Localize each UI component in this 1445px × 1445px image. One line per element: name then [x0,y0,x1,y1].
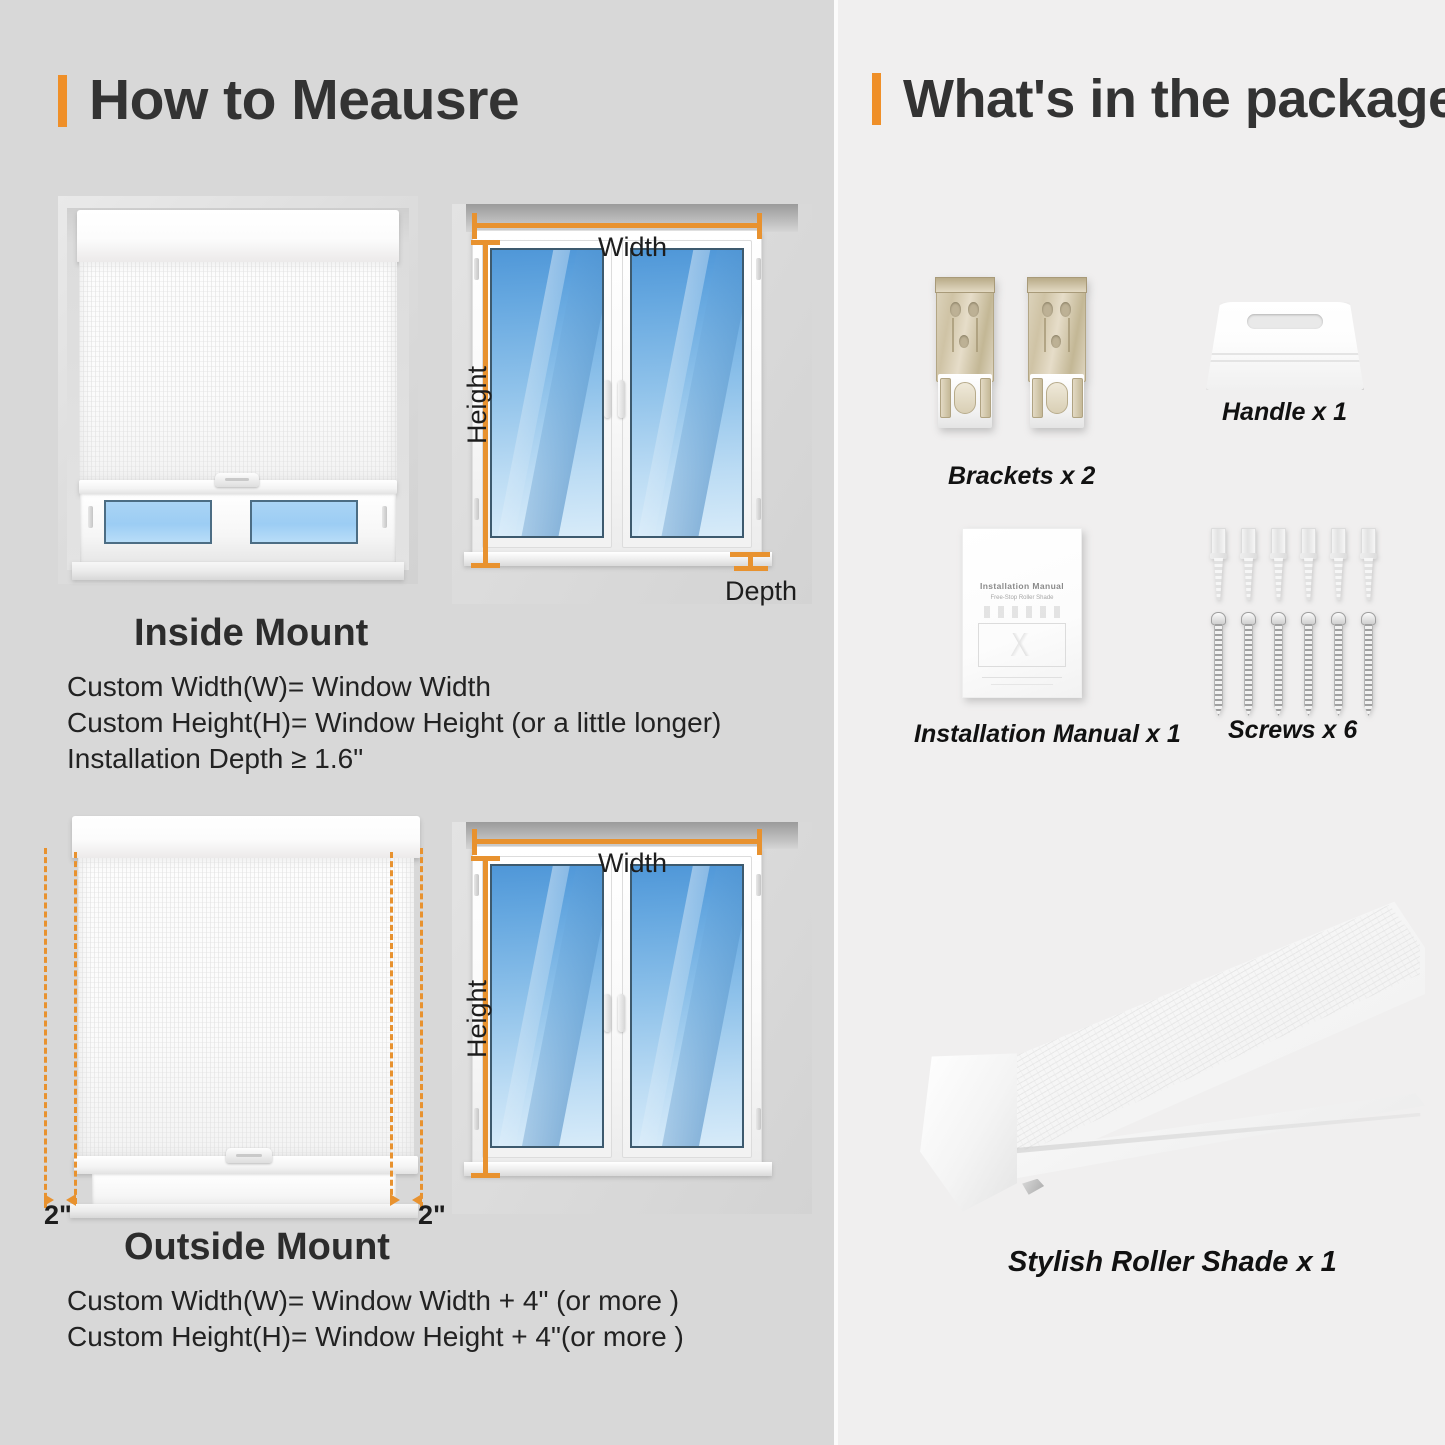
depth-label: Depth [725,576,797,607]
manual-cover-title: Installation Manual [963,581,1081,591]
overhang-guide-left-outer [44,848,47,1208]
roller-shade-caption: Stylish Roller Shade x 1 [1008,1246,1337,1279]
window-sash-right [622,856,752,1158]
handle-seam [1206,360,1364,362]
height-label: Height [462,366,493,444]
width-dimension-cap-right [757,213,762,239]
inside-mount-shade-illustration [58,196,418,584]
width-label: Width [598,232,667,263]
overhang-left-label: 2" [44,1200,72,1231]
window-sill [464,552,772,566]
width-dimension-line [472,839,762,844]
inside-mount-line-1: Custom Width(W)= Window Width [67,671,491,703]
manual-icon: Installation Manual Free-Stop Roller Sha… [962,528,1082,698]
manual-caption: Installation Manual x 1 [914,720,1181,749]
window-hinge-bottom-right-icon [756,1108,761,1130]
window-hinge-left-icon [88,506,93,528]
window-frame [472,230,762,558]
handle-seam [1206,353,1364,355]
manual-cover-subtitle: Free-Stop Roller Shade [963,595,1081,601]
wall-anchor-icon [1360,528,1377,600]
bracket-rib [1068,318,1070,352]
height-dimension-cap-top [471,856,500,861]
whats-in-package-heading: What's in the package [872,72,1445,126]
bracket-hole [959,335,969,348]
screw-icon [1211,612,1226,716]
window-hinge-top-left-icon [474,258,479,280]
window-sash-left [482,240,612,548]
handle-caption: Handle x 1 [1222,398,1347,427]
bracket-hole [1042,302,1053,317]
how-to-measure-heading-text: How to Meausre [89,72,519,129]
bracket-rib [976,318,978,352]
screw-icon [1331,612,1346,716]
accent-bar-icon [872,73,881,125]
height-dimension-cap-bottom [471,1173,500,1178]
outside-mount-line-1: Custom Width(W)= Window Width + 4" (or m… [67,1285,679,1317]
shade-cassette [77,210,399,262]
window-glass-left [104,500,212,544]
bracket-metal-top [935,277,995,293]
bracket-icon [936,278,994,428]
window-glass-right [630,864,744,1148]
shade-pull-handle[interactable] [215,473,259,487]
depth-dimension-cap [734,566,768,571]
bracket-icon [1028,278,1086,428]
width-label: Width [598,848,667,879]
manual-cover-footer-rule [991,684,1052,685]
bracket-tab-right [980,378,991,418]
bracket-metal-top [1027,277,1087,293]
inside-mount-line-3: Installation Depth ≥ 1.6" [67,743,363,775]
window-hinge-bottom-left-icon [474,1108,479,1130]
shade-pull-handle[interactable] [226,1148,272,1163]
window-handle-right[interactable] [618,994,625,1032]
roller-shade-metal-clip [1022,1179,1044,1195]
outside-mount-line-2: Custom Height(H)= Window Height + 4"(or … [67,1321,684,1353]
window-glass-right [250,500,358,544]
outside-mount-shade-illustration [30,808,450,1218]
window-hinge-bottom-right-icon [756,498,761,520]
wall-anchor-icon [1330,528,1347,600]
window-frame [472,846,762,1168]
wall-anchor-icon [1240,528,1257,600]
bracket-rib [952,318,954,352]
window-glass-left [490,248,604,538]
bracket-metal-body [936,278,994,382]
window-hinge-top-left-icon [474,874,479,896]
bracket-tab-left [1032,378,1043,418]
screw-icon [1301,612,1316,716]
window-sash-right [622,240,752,548]
window-hinge-right-icon [382,506,387,528]
shade-fabric [78,858,414,1158]
screw-icon [1271,612,1286,716]
inside-mount-line-2: Custom Height(H)= Window Height (or a li… [67,707,721,739]
accent-bar-icon [58,75,67,127]
screws-group [1210,528,1390,708]
wall-anchor-icon [1210,528,1227,600]
window-glass-right [630,248,744,538]
overhang-guide-right-outer [420,848,423,1208]
wall-anchor-icon [1300,528,1317,600]
bracket-oval-slot [1046,382,1068,414]
bracket-hole [968,302,979,317]
how-to-measure-heading: How to Meausre [58,72,519,129]
inside-mount-measure-diagram: Width Height Depth [452,204,812,604]
window-hinge-top-right-icon [756,874,761,896]
window-sill [464,1162,772,1176]
overhang-guide-left-inner [74,852,77,1204]
brackets-group [936,278,1116,440]
window-handle-left[interactable] [604,380,611,418]
window-sill [70,1204,418,1218]
width-dimension-cap-left [472,829,477,855]
shade-fabric [79,262,397,482]
manual-cover-diagram-box [978,623,1065,667]
outside-mount-title: Outside Mount [124,1226,390,1269]
bracket-hole [950,302,961,317]
bracket-oval-slot [954,382,976,414]
overhang-right-label: 2" [418,1200,446,1231]
brackets-caption: Brackets x 2 [948,462,1095,491]
handle-grip-slot [1247,314,1323,329]
window-hinge-top-right-icon [756,258,761,280]
window-handle-left[interactable] [604,994,611,1032]
width-dimension-cap-left [472,213,477,239]
width-dimension-cap-right [757,829,762,855]
manual-cover-footer-rule [982,677,1062,678]
bracket-hole [1060,302,1071,317]
bracket-metal-body [1028,278,1086,382]
bracket-tab-left [940,378,951,418]
roller-shade-end-cap [920,1053,1017,1211]
window-sill [72,562,404,580]
height-dimension-cap-top [471,240,500,245]
height-dimension-cap-bottom [471,563,500,568]
window-sash-left [482,856,612,1158]
whats-in-package-heading-text: What's in the package [903,72,1445,126]
handle-icon [1206,302,1364,390]
outside-mount-measure-diagram: Width Height [452,822,812,1214]
product-infographic: How to Meausre What's in the package [0,0,1445,1445]
overhang-arrow-right-a [390,1194,400,1206]
window-hinge-bottom-left-icon [474,498,479,520]
height-label: Height [462,980,493,1058]
window-handle-right[interactable] [618,380,625,418]
wall-anchor-icon [1270,528,1287,600]
screws-caption: Screws x 6 [1228,716,1357,745]
width-dimension-line [472,223,762,228]
bracket-hole [1051,335,1061,348]
manual-cover-figures [984,606,1060,618]
window-glass-left [490,864,604,1148]
screw-icon [1241,612,1256,716]
overhang-guide-right-inner [390,852,393,1204]
inside-mount-title: Inside Mount [134,612,368,655]
screw-icon [1361,612,1376,716]
bracket-tab-right [1072,378,1083,418]
roller-shade-icon [915,895,1425,1225]
bracket-rib [1044,318,1046,352]
shade-cassette [72,816,420,858]
